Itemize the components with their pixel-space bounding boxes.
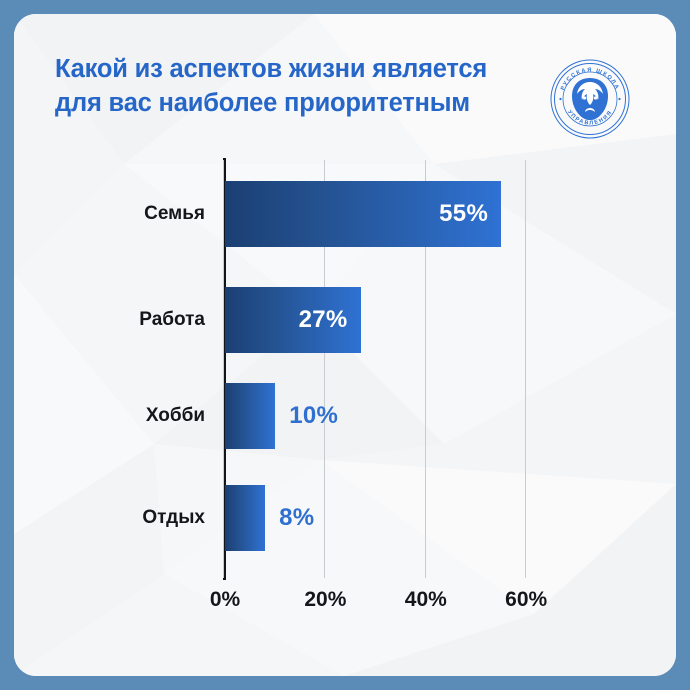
bar-3 (225, 485, 265, 551)
bar-value-label-1: 27% (299, 306, 348, 334)
x-tick-20: 20% (304, 588, 346, 612)
x-tick-40: 40% (405, 588, 447, 612)
category-label-1: Работа (139, 309, 205, 331)
bar-2 (225, 383, 275, 449)
bar-value-label-0: 55% (439, 200, 488, 228)
category-label-2: Хобби (146, 405, 205, 427)
infographic-card: Какой из аспектов жизни является для вас… (14, 14, 676, 676)
x-tick-0: 0% (210, 588, 240, 612)
infographic-frame: Какой из аспектов жизни является для вас… (0, 0, 690, 690)
bar-chart: 55%27%10%8% СемьяРаботаХоббиОтдых 0%20%4… (14, 14, 676, 676)
bar-value-label-3: 8% (279, 504, 314, 532)
bar-value-label-2: 10% (289, 402, 338, 430)
x-tick-60: 60% (505, 588, 547, 612)
bar-1: 27% (225, 287, 361, 353)
gridline-0 (223, 160, 224, 578)
gridline-60 (525, 160, 526, 578)
category-label-3: Отдых (142, 507, 205, 529)
bar-0: 55% (225, 181, 501, 247)
category-label-0: Семья (144, 203, 205, 225)
